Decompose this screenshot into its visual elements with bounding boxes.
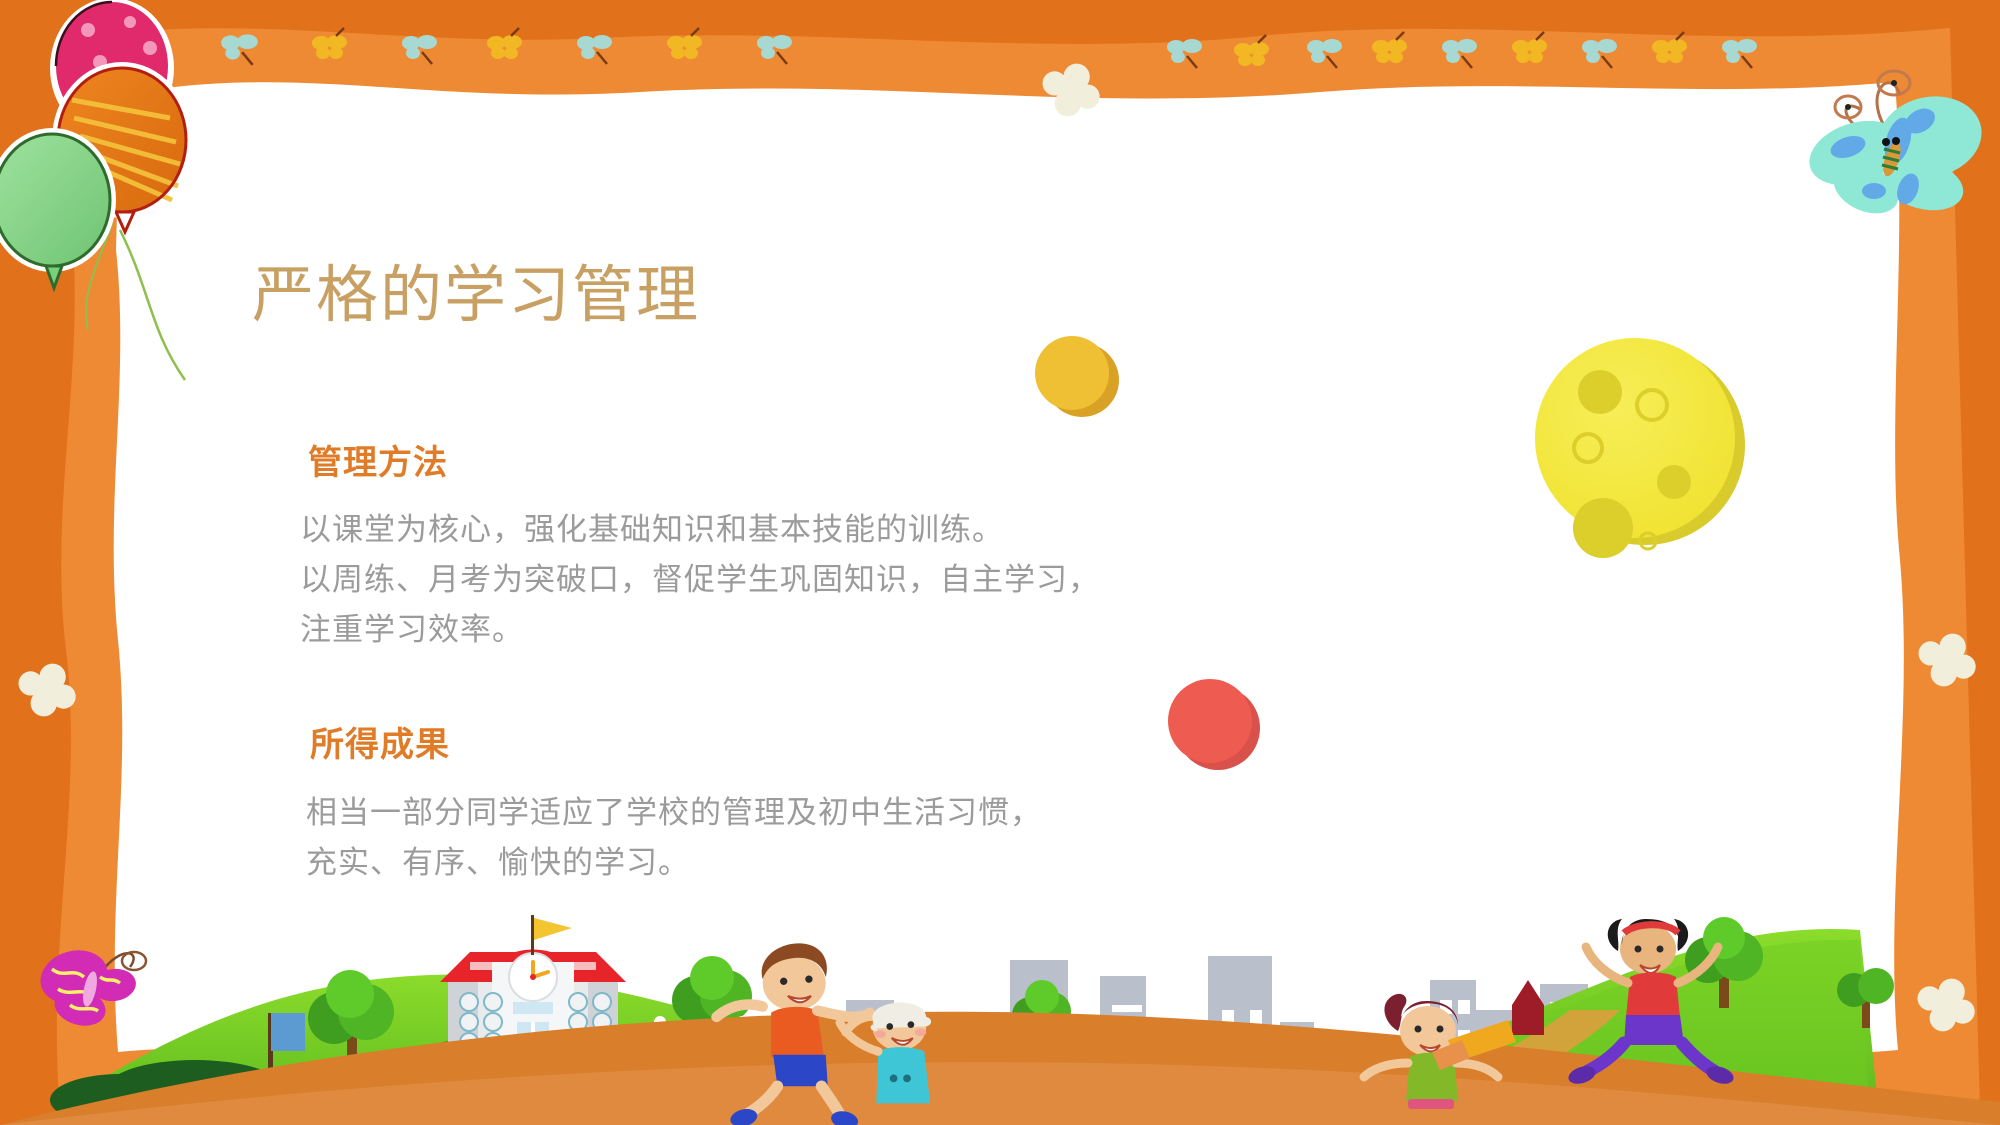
section-body-management-method: 以课堂为核心，强化基础知识和基本技能的训练。 以周练、月考为突破口，督促学生巩固… — [300, 505, 1100, 655]
slide-root: 严格的学习管理 管理方法 以课堂为核心，强化基础知识和基本技能的训练。 以周练、… — [0, 0, 2000, 1125]
section-body-results: 相当一部分同学适应了学校的管理及初中生活习惯， 充实、有序、愉快的学习。 — [306, 788, 1042, 888]
body-line: 相当一部分同学适应了学校的管理及初中生活习惯， — [306, 788, 1042, 838]
page-title: 严格的学习管理 — [252, 262, 700, 330]
section-heading-management-method: 管理方法 — [308, 435, 448, 484]
body-line: 注重学习效率。 — [300, 605, 1100, 655]
body-line: 以周练、月考为突破口，督促学生巩固知识，自主学习， — [300, 555, 1100, 605]
section-heading-results: 所得成果 — [310, 717, 450, 766]
body-line: 以课堂为核心，强化基础知识和基本技能的训练。 — [300, 505, 1100, 555]
slide-content: 严格的学习管理 管理方法 以课堂为核心，强化基础知识和基本技能的训练。 以周练、… — [0, 0, 2000, 1125]
body-line: 充实、有序、愉快的学习。 — [306, 838, 1042, 888]
